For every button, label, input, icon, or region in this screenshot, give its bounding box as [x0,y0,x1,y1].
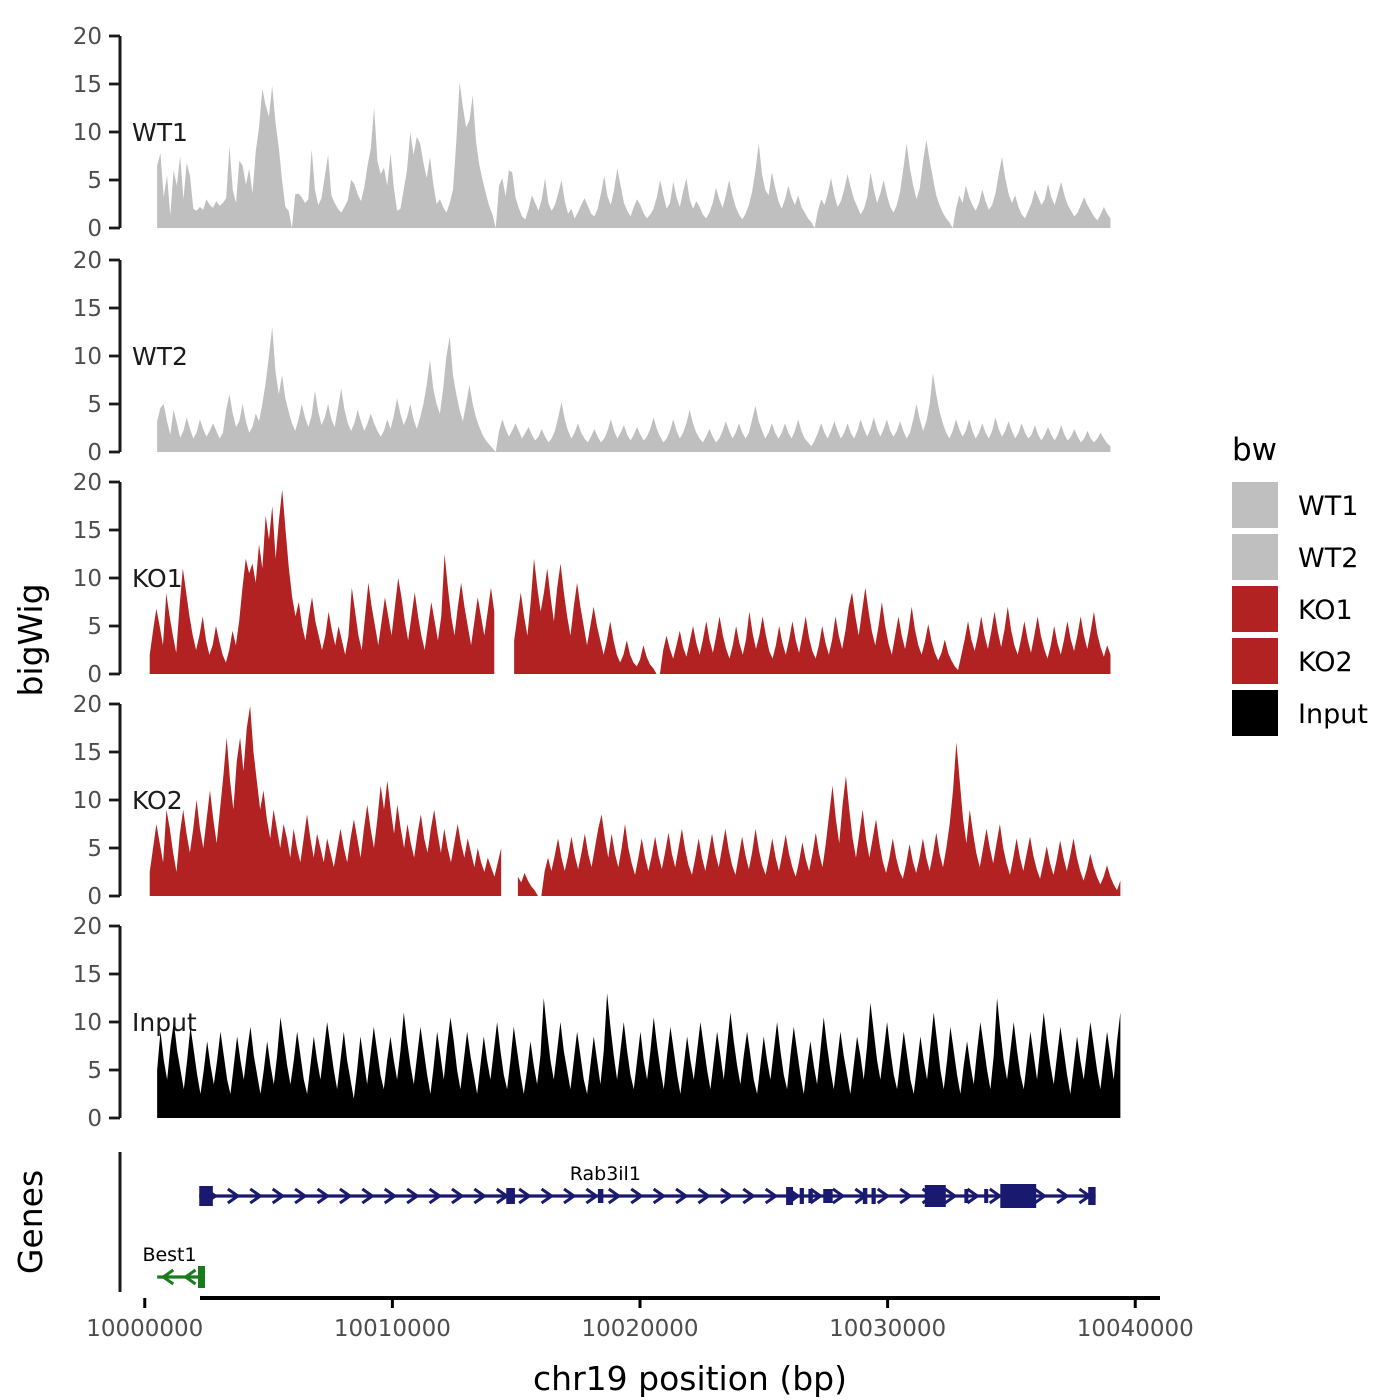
y-tick-label: 10 [73,1010,102,1036]
gene-exon [1088,1187,1095,1205]
legend-swatch-input [1232,690,1278,736]
y-tick-label: 20 [73,914,102,940]
legend-item-ko1[interactable]: KO1 [1232,586,1353,632]
y-tick-label: 15 [73,296,102,322]
legend-title: bw [1232,432,1277,468]
legend-swatch-wt1 [1232,482,1278,528]
y-tick-label: 15 [73,518,102,544]
genes-axis-title: Genes [11,1170,50,1274]
figure-canvas: 05101520WT105101520WT205101520KO10510152… [0,0,1400,1400]
legend-label-ko2: KO2 [1298,647,1353,678]
gene-exon [823,1189,832,1203]
y-tick-label: 10 [73,120,102,146]
y-tick-label: 0 [87,216,102,242]
track-area-ko1 [150,490,495,674]
x-tick-label: 10020000 [581,1316,698,1342]
gene-exon [984,1189,988,1203]
gene-exon [800,1188,804,1204]
legend-swatch-ko2 [1232,638,1278,684]
legend-label-input: Input [1298,699,1368,730]
y-tick-label: 5 [87,1058,102,1084]
y-tick-label: 10 [73,566,102,592]
y-axis-title: bigWig [11,583,50,696]
legend-item-wt2[interactable]: WT2 [1232,534,1358,580]
x-tick-label: 10040000 [1077,1316,1194,1342]
gene-exon [506,1188,515,1204]
legend-label-wt2: WT2 [1298,543,1358,574]
track-panel-wt2: 05101520WT2 [73,248,1111,466]
track-label-input: Input [132,1008,197,1037]
track-area-wt1 [157,82,1110,228]
legend-item-input[interactable]: Input [1232,690,1368,736]
x-axis-title: chr19 position (bp) [533,1359,847,1398]
x-tick-label: 10030000 [829,1316,946,1342]
track-panel-input: 05101520Input [73,914,1121,1132]
track-area-ko1 [514,559,1110,674]
y-tick-label: 0 [87,1106,102,1132]
gene-exon [1000,1184,1036,1208]
y-tick-label: 5 [87,836,102,862]
track-label-ko2: KO2 [132,786,183,815]
gene-exon [872,1188,876,1204]
genome-browser-figure: 05101520WT105101520WT205101520KO10510152… [0,0,1400,1400]
gene-best1[interactable]: Best1 [142,1244,201,1284]
gene-exon [863,1188,867,1204]
gene-label-best1: Best1 [142,1244,196,1266]
genes-panel: 1000000010010000100200001003000010040000… [86,1152,1194,1342]
y-tick-label: 20 [73,692,102,718]
y-tick-label: 5 [87,168,102,194]
gene-rab3il1[interactable]: Rab3il1 [199,1163,1095,1208]
gene-exon [808,1189,812,1203]
y-tick-label: 20 [73,248,102,274]
y-tick-label: 0 [87,440,102,466]
track-area-input [157,993,1120,1118]
track-label-wt2: WT2 [132,342,188,371]
track-label-wt1: WT1 [132,118,188,147]
y-tick-label: 15 [73,72,102,98]
gene-exon [964,1189,968,1203]
x-tick-label: 10010000 [334,1316,451,1342]
track-area-wt2 [157,327,1110,452]
y-tick-label: 5 [87,614,102,640]
y-tick-label: 20 [73,470,102,496]
legend-label-wt1: WT1 [1298,491,1358,522]
y-tick-label: 15 [73,962,102,988]
gene-label-rab3il1: Rab3il1 [570,1163,641,1185]
y-tick-label: 5 [87,392,102,418]
legend-swatch-ko1 [1232,586,1278,632]
legend-item-wt1[interactable]: WT1 [1232,482,1358,528]
gene-exon [925,1185,946,1207]
track-label-ko1: KO1 [132,564,183,593]
gene-exon [199,1186,213,1206]
y-tick-label: 10 [73,344,102,370]
track-panel-wt1: 05101520WT1 [73,24,1111,242]
track-area-ko2 [150,706,501,896]
gene-exon [786,1187,793,1205]
legend-swatch-wt2 [1232,534,1278,580]
x-tick-label: 10000000 [86,1316,203,1342]
legend-item-ko2[interactable]: KO2 [1232,638,1353,684]
y-tick-label: 10 [73,788,102,814]
y-tick-label: 0 [87,884,102,910]
track-area-ko2 [518,742,1120,896]
y-tick-label: 15 [73,740,102,766]
y-tick-label: 20 [73,24,102,50]
legend-label-ko1: KO1 [1298,595,1353,626]
track-panel-ko2: 05101520KO2 [73,692,1121,910]
gene-exon [598,1189,603,1203]
gene-exon [198,1266,205,1288]
y-tick-label: 0 [87,662,102,688]
track-panel-ko1: 05101520KO1 [73,470,1111,688]
